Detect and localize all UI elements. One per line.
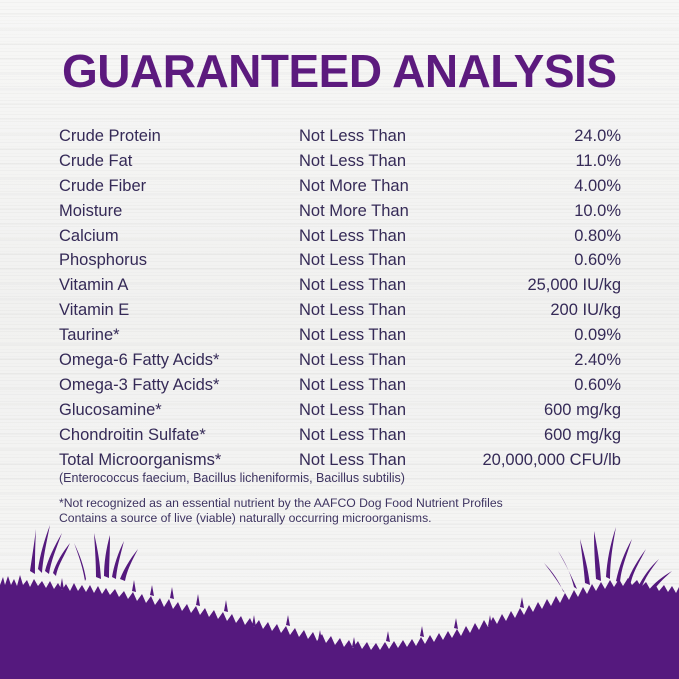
nutrient-name: Crude Fiber bbox=[59, 177, 299, 196]
table-row: Moisture Not More Than 10.0% bbox=[59, 202, 621, 227]
nutrient-name: Crude Fat bbox=[59, 152, 299, 171]
nutrient-name: Taurine* bbox=[59, 326, 299, 345]
grass-silhouette-icon bbox=[0, 519, 679, 679]
nutrient-qualifier: Not Less Than bbox=[299, 276, 464, 295]
table-row: Crude Fat Not Less Than 11.0% bbox=[59, 152, 621, 177]
page-title: GUARANTEED ANALYSIS bbox=[62, 46, 617, 96]
table-row: Omega-6 Fatty Acids* Not Less Than 2.40% bbox=[59, 351, 621, 376]
nutrient-name: Vitamin E bbox=[59, 301, 299, 320]
nutrient-amount: 2.40% bbox=[464, 351, 621, 370]
nutrient-name: Moisture bbox=[59, 202, 299, 221]
nutrient-amount: 0.80% bbox=[464, 227, 621, 246]
nutrient-qualifier: Not Less Than bbox=[299, 301, 464, 320]
nutrient-name: Glucosamine* bbox=[59, 401, 299, 420]
nutrient-name: Total Microorganisms* bbox=[59, 451, 299, 470]
nutrient-name: Omega-3 Fatty Acids* bbox=[59, 376, 299, 395]
table-row: Phosphorus Not Less Than 0.60% bbox=[59, 251, 621, 276]
nutrient-amount: 200 IU/kg bbox=[464, 301, 621, 320]
nutrient-qualifier: Not Less Than bbox=[299, 351, 464, 370]
nutrient-amount: 25,000 IU/kg bbox=[464, 276, 621, 295]
nutrient-amount: 600 mg/kg bbox=[464, 401, 621, 420]
nutrient-amount: 10.0% bbox=[464, 202, 621, 221]
table-row: Taurine* Not Less Than 0.09% bbox=[59, 326, 621, 351]
table-row: Calcium Not Less Than 0.80% bbox=[59, 227, 621, 252]
table-row: Chondroitin Sulfate* Not Less Than 600 m… bbox=[59, 426, 621, 451]
nutrient-qualifier: Not Less Than bbox=[299, 326, 464, 345]
nutrient-qualifier: Not More Than bbox=[299, 177, 464, 196]
nutrient-name: Calcium bbox=[59, 227, 299, 246]
nutrient-qualifier: Not Less Than bbox=[299, 426, 464, 445]
nutrient-qualifier: Not Less Than bbox=[299, 152, 464, 171]
nutrient-qualifier: Not Less Than bbox=[299, 127, 464, 146]
guaranteed-analysis-panel: GUARANTEED ANALYSIS Crude Protein Not Le… bbox=[0, 0, 679, 679]
nutrient-qualifier: Not More Than bbox=[299, 202, 464, 221]
footnote-line-1: *Not recognized as an essential nutrient… bbox=[59, 496, 503, 511]
nutrient-amount: 600 mg/kg bbox=[464, 426, 621, 445]
nutrient-qualifier: Not Less Than bbox=[299, 227, 464, 246]
nutrient-qualifier: Not Less Than bbox=[299, 451, 464, 470]
nutrient-name: Phosphorus bbox=[59, 251, 299, 270]
table-row: Omega-3 Fatty Acids* Not Less Than 0.60% bbox=[59, 376, 621, 401]
nutrient-amount: 0.60% bbox=[464, 376, 621, 395]
nutrient-qualifier: Not Less Than bbox=[299, 251, 464, 270]
nutrient-amount: 4.00% bbox=[464, 177, 621, 196]
nutrient-amount: 0.60% bbox=[464, 251, 621, 270]
table-row: Crude Fiber Not More Than 4.00% bbox=[59, 177, 621, 202]
nutrient-qualifier: Not Less Than bbox=[299, 376, 464, 395]
nutrient-name: Vitamin A bbox=[59, 276, 299, 295]
nutrient-name: Omega-6 Fatty Acids* bbox=[59, 351, 299, 370]
nutrient-name: Chondroitin Sulfate* bbox=[59, 426, 299, 445]
nutrient-amount: 24.0% bbox=[464, 127, 621, 146]
nutrient-amount: 0.09% bbox=[464, 326, 621, 345]
microorganism-strains-note: (Enterococcus faecium, Bacillus lichenif… bbox=[59, 471, 405, 485]
nutrient-amount: 20,000,000 CFU/lb bbox=[464, 451, 621, 470]
nutrition-table: Crude Protein Not Less Than 24.0% Crude … bbox=[59, 127, 621, 475]
nutrient-qualifier: Not Less Than bbox=[299, 401, 464, 420]
table-row: Vitamin E Not Less Than 200 IU/kg bbox=[59, 301, 621, 326]
table-row: Crude Protein Not Less Than 24.0% bbox=[59, 127, 621, 152]
nutrient-amount: 11.0% bbox=[464, 152, 621, 171]
nutrient-name: Crude Protein bbox=[59, 127, 299, 146]
table-row: Vitamin A Not Less Than 25,000 IU/kg bbox=[59, 276, 621, 301]
table-row: Glucosamine* Not Less Than 600 mg/kg bbox=[59, 401, 621, 426]
